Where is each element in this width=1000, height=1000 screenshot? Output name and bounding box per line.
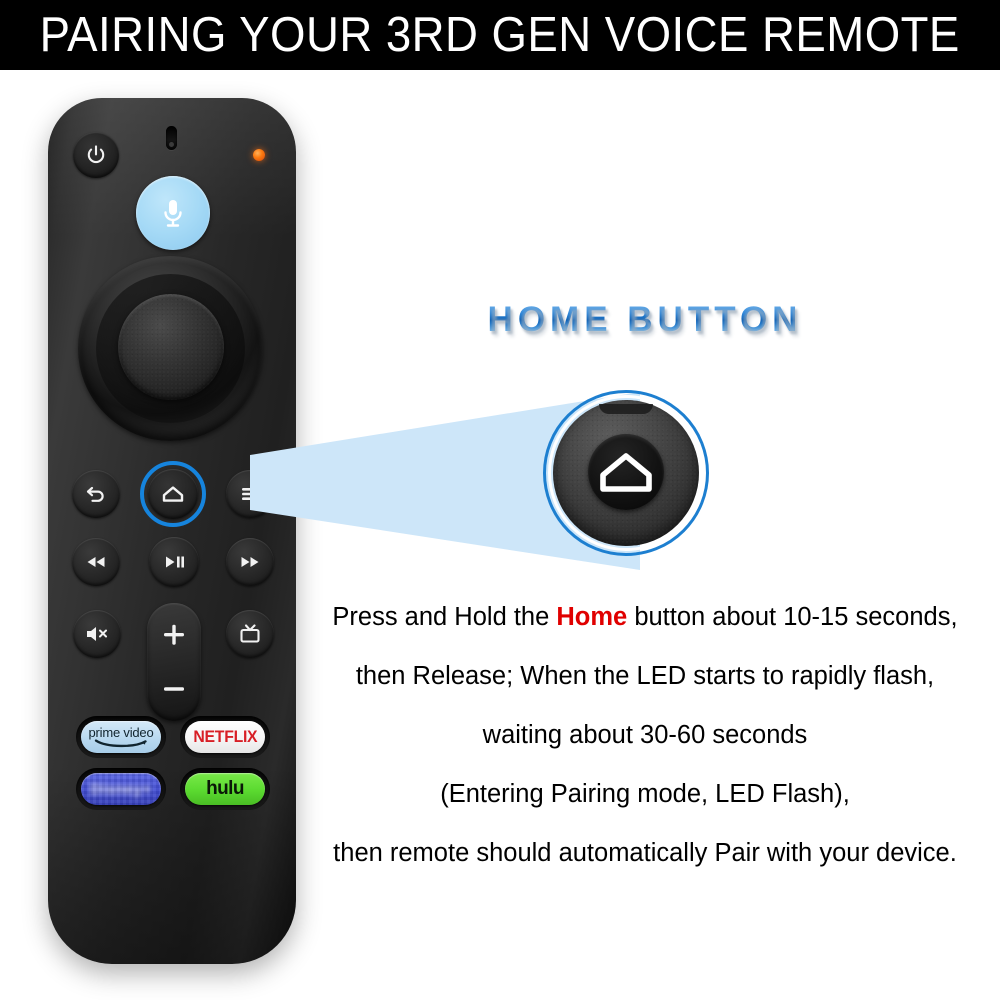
app-label-netflix: NETFLIX	[193, 727, 257, 747]
volume-up-button[interactable]	[147, 615, 201, 655]
back-button[interactable]	[72, 470, 120, 518]
menu-button[interactable]	[226, 470, 274, 518]
app-label-disney-plus: Disney+	[90, 781, 151, 798]
microphone-icon	[158, 196, 188, 230]
rewind-button[interactable]	[72, 538, 120, 586]
app-button-netflix[interactable]: NETFLIX	[185, 721, 265, 753]
callout-blue-ring	[543, 390, 709, 556]
home-button-highlight-ring	[140, 461, 206, 527]
menu-lines-icon	[238, 484, 262, 504]
mute-icon	[83, 623, 111, 645]
page-title: PAIRING YOUR 3RD GEN VOICE REMOTE	[40, 11, 960, 60]
minus-icon	[161, 684, 187, 694]
power-button[interactable]	[73, 132, 119, 178]
app-button-hulu[interactable]: hulu	[185, 773, 265, 805]
app-label-prime-video: prime video	[89, 726, 154, 739]
prime-video-logo: prime video	[89, 726, 154, 748]
app-button-disney-plus[interactable]: Disney+	[81, 773, 161, 805]
callout-title: HOME BUTTON	[455, 300, 835, 340]
select-button[interactable]	[118, 294, 224, 400]
instruction-highlight-home: Home	[556, 603, 627, 631]
instruction-line: then Release; When the LED starts to rap…	[300, 647, 990, 706]
plus-icon	[161, 622, 187, 648]
app-label-hulu: hulu	[206, 778, 244, 800]
voice-button[interactable]	[136, 176, 210, 250]
instruction-text-after: button about 10-15 seconds,	[627, 603, 957, 631]
instruction-text-before: Press and Hold the	[332, 603, 556, 631]
select-button-texture	[118, 294, 224, 400]
instruction-line: Press and Hold the Home button about 10-…	[300, 588, 990, 647]
volume-rocker[interactable]	[147, 603, 201, 721]
prime-smile-icon	[93, 739, 149, 748]
fast-forward-button[interactable]	[226, 538, 274, 586]
back-arrow-icon	[83, 481, 109, 507]
led-indicator-icon	[253, 149, 265, 161]
instruction-line: (Entering Pairing mode, LED Flash),	[300, 765, 990, 824]
home-button-callout	[543, 390, 709, 556]
fast-forward-icon	[237, 554, 263, 570]
fire-tv-remote: prime video NETFLIX Disney+ hulu	[48, 98, 296, 964]
mute-button[interactable]	[73, 610, 121, 658]
page-root: PAIRING YOUR 3RD GEN VOICE REMOTE	[0, 0, 1000, 1000]
header-banner: PAIRING YOUR 3RD GEN VOICE REMOTE	[0, 0, 1000, 70]
power-icon	[84, 143, 108, 167]
volume-down-button[interactable]	[147, 669, 201, 709]
play-pause-button[interactable]	[149, 537, 199, 587]
mic-slot-icon	[166, 126, 177, 150]
rewind-icon	[83, 554, 109, 570]
instruction-line: waiting about 30-60 seconds	[300, 706, 990, 765]
tv-guide-icon	[237, 622, 263, 646]
instruction-line: then remote should automatically Pair wi…	[300, 824, 990, 883]
navigation-ring[interactable]	[78, 256, 263, 441]
mic-slot-dot	[169, 142, 174, 147]
tv-guide-button[interactable]	[226, 610, 274, 658]
play-pause-icon	[161, 554, 187, 570]
app-button-prime-video[interactable]: prime video	[81, 721, 161, 753]
instructions-block: Press and Hold the Home button about 10-…	[300, 588, 990, 883]
